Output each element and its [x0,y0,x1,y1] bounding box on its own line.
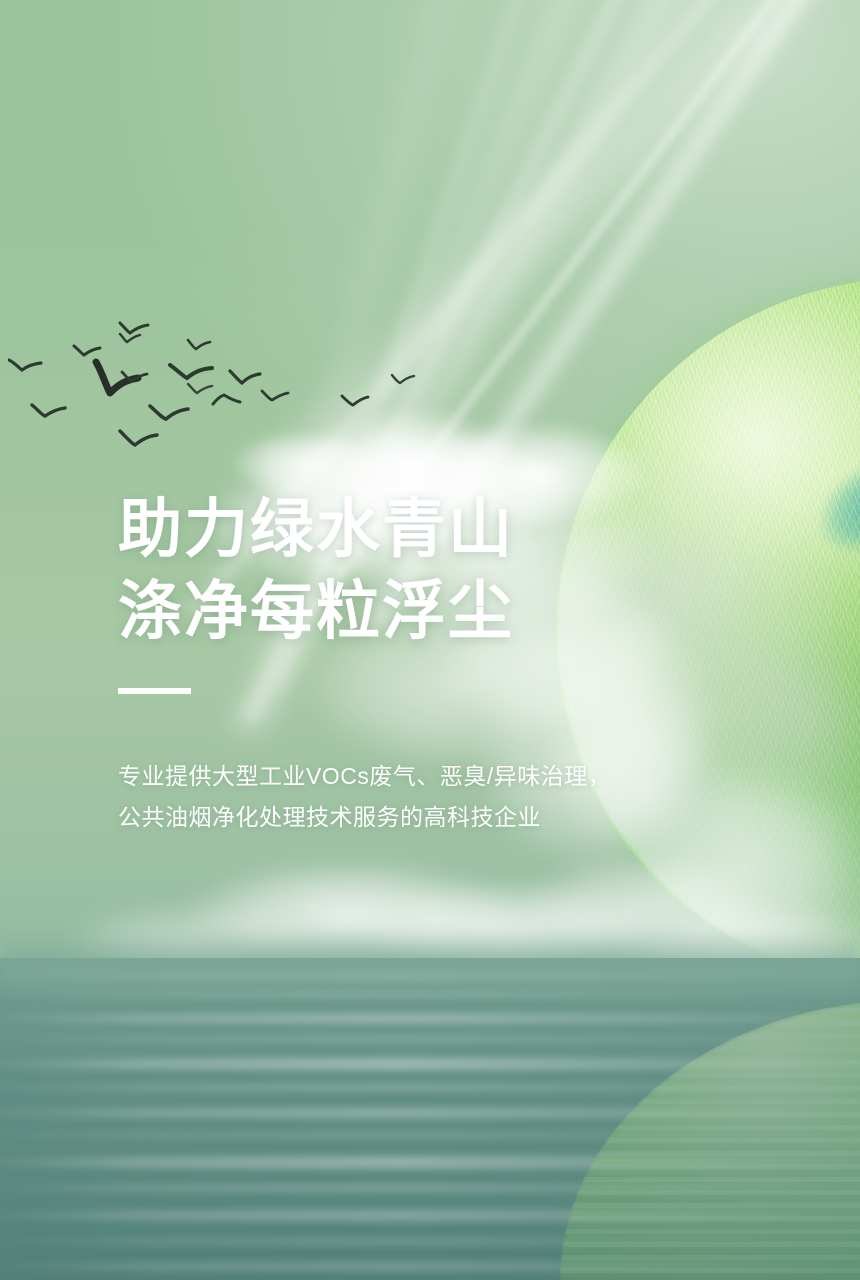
bird-icon [30,402,68,420]
title-divider [118,688,191,694]
page-title-line-2: 涤净每粒浮尘 [118,570,738,652]
bird-icon [118,320,150,336]
bird-icon [168,362,216,384]
water-horizon-blend [0,930,860,1000]
bird-icon [210,392,242,408]
bird-icon [118,428,160,448]
bird-icon [390,372,416,386]
bird-icon [260,388,290,404]
bird-icon [186,338,212,352]
page-title-line-1: 助力绿水青山 [118,488,738,570]
bird-icon [120,370,150,384]
subtitle-line-1: 专业提供大型工业VOCs废气、恶臭/异味治理， [118,756,738,797]
eco-promo-poster: 助力绿水青山 涤净每粒浮尘 专业提供大型工业VOCs废气、恶臭/异味治理， 公共… [0,0,860,1280]
text-content-block: 助力绿水青山 涤净每粒浮尘 专业提供大型工业VOCs废气、恶臭/异味治理， 公共… [118,488,738,838]
bird-icon [148,402,190,422]
bird-flock [0,330,480,460]
subtitle-line-2: 公共油烟净化处理技术服务的高科技企业 [118,797,738,838]
bird-icon [228,368,262,386]
bird-icon [340,392,370,408]
bird-icon [8,358,48,376]
